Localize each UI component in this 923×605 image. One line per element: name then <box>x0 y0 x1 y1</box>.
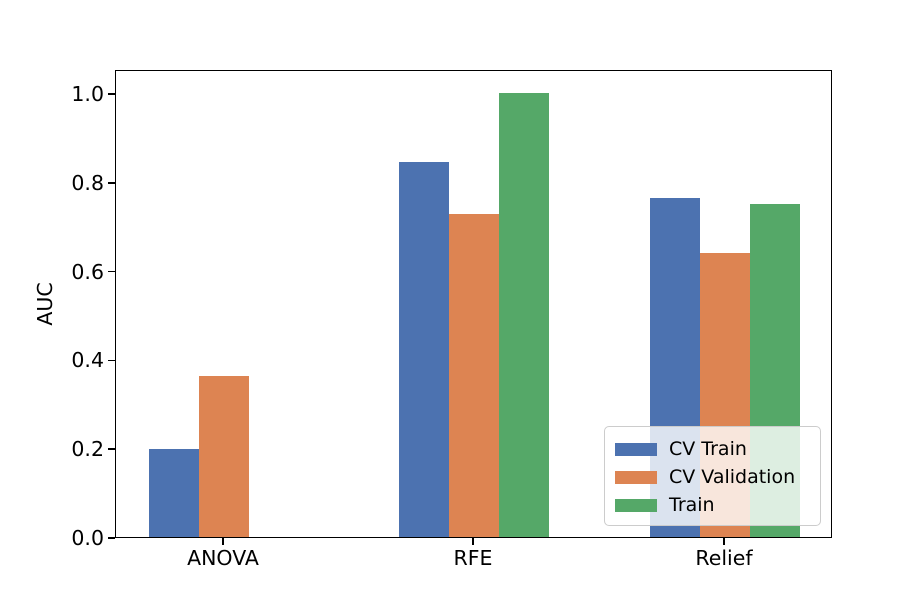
bar <box>199 376 249 537</box>
y-tick-label: 0.8 <box>71 173 104 194</box>
legend-label: CV Train <box>669 440 747 459</box>
bar <box>499 93 549 537</box>
y-tick-mark <box>108 93 115 95</box>
bar <box>449 214 499 537</box>
bar <box>399 162 449 537</box>
y-tick-label: 0.0 <box>71 528 104 549</box>
x-tick-mark <box>472 538 474 545</box>
y-tick-label: 0.6 <box>71 262 104 283</box>
y-tick-mark <box>108 271 115 273</box>
x-tick-label: ANOVA <box>187 548 259 569</box>
y-tick-label: 0.2 <box>71 439 104 460</box>
legend-item: CV Train <box>615 435 810 463</box>
legend-swatch-icon <box>615 471 657 484</box>
legend-item: Train <box>615 491 810 519</box>
y-axis-label: AUC <box>35 282 56 325</box>
bar-chart-figure: 1.00.80.60.40.20.0 AUC CV TrainCV Valida… <box>0 0 923 605</box>
y-tick-mark <box>108 537 115 539</box>
legend-swatch-icon <box>615 443 657 456</box>
x-tick-mark <box>723 538 725 545</box>
y-tick-label: 1.0 <box>71 84 104 105</box>
x-tick-label: Relief <box>695 548 752 569</box>
legend-label: CV Validation <box>669 468 795 487</box>
y-tick-mark <box>108 360 115 362</box>
legend-swatch-icon <box>615 499 657 512</box>
y-tick-mark <box>108 448 115 450</box>
x-tick-label: RFE <box>454 548 493 569</box>
y-tick-mark <box>108 182 115 184</box>
bar <box>149 449 199 537</box>
x-tick-mark <box>222 538 224 545</box>
chart-legend: CV TrainCV ValidationTrain <box>604 426 821 526</box>
legend-item: CV Validation <box>615 463 810 491</box>
legend-label: Train <box>669 496 715 515</box>
y-tick-label: 0.4 <box>71 350 104 371</box>
